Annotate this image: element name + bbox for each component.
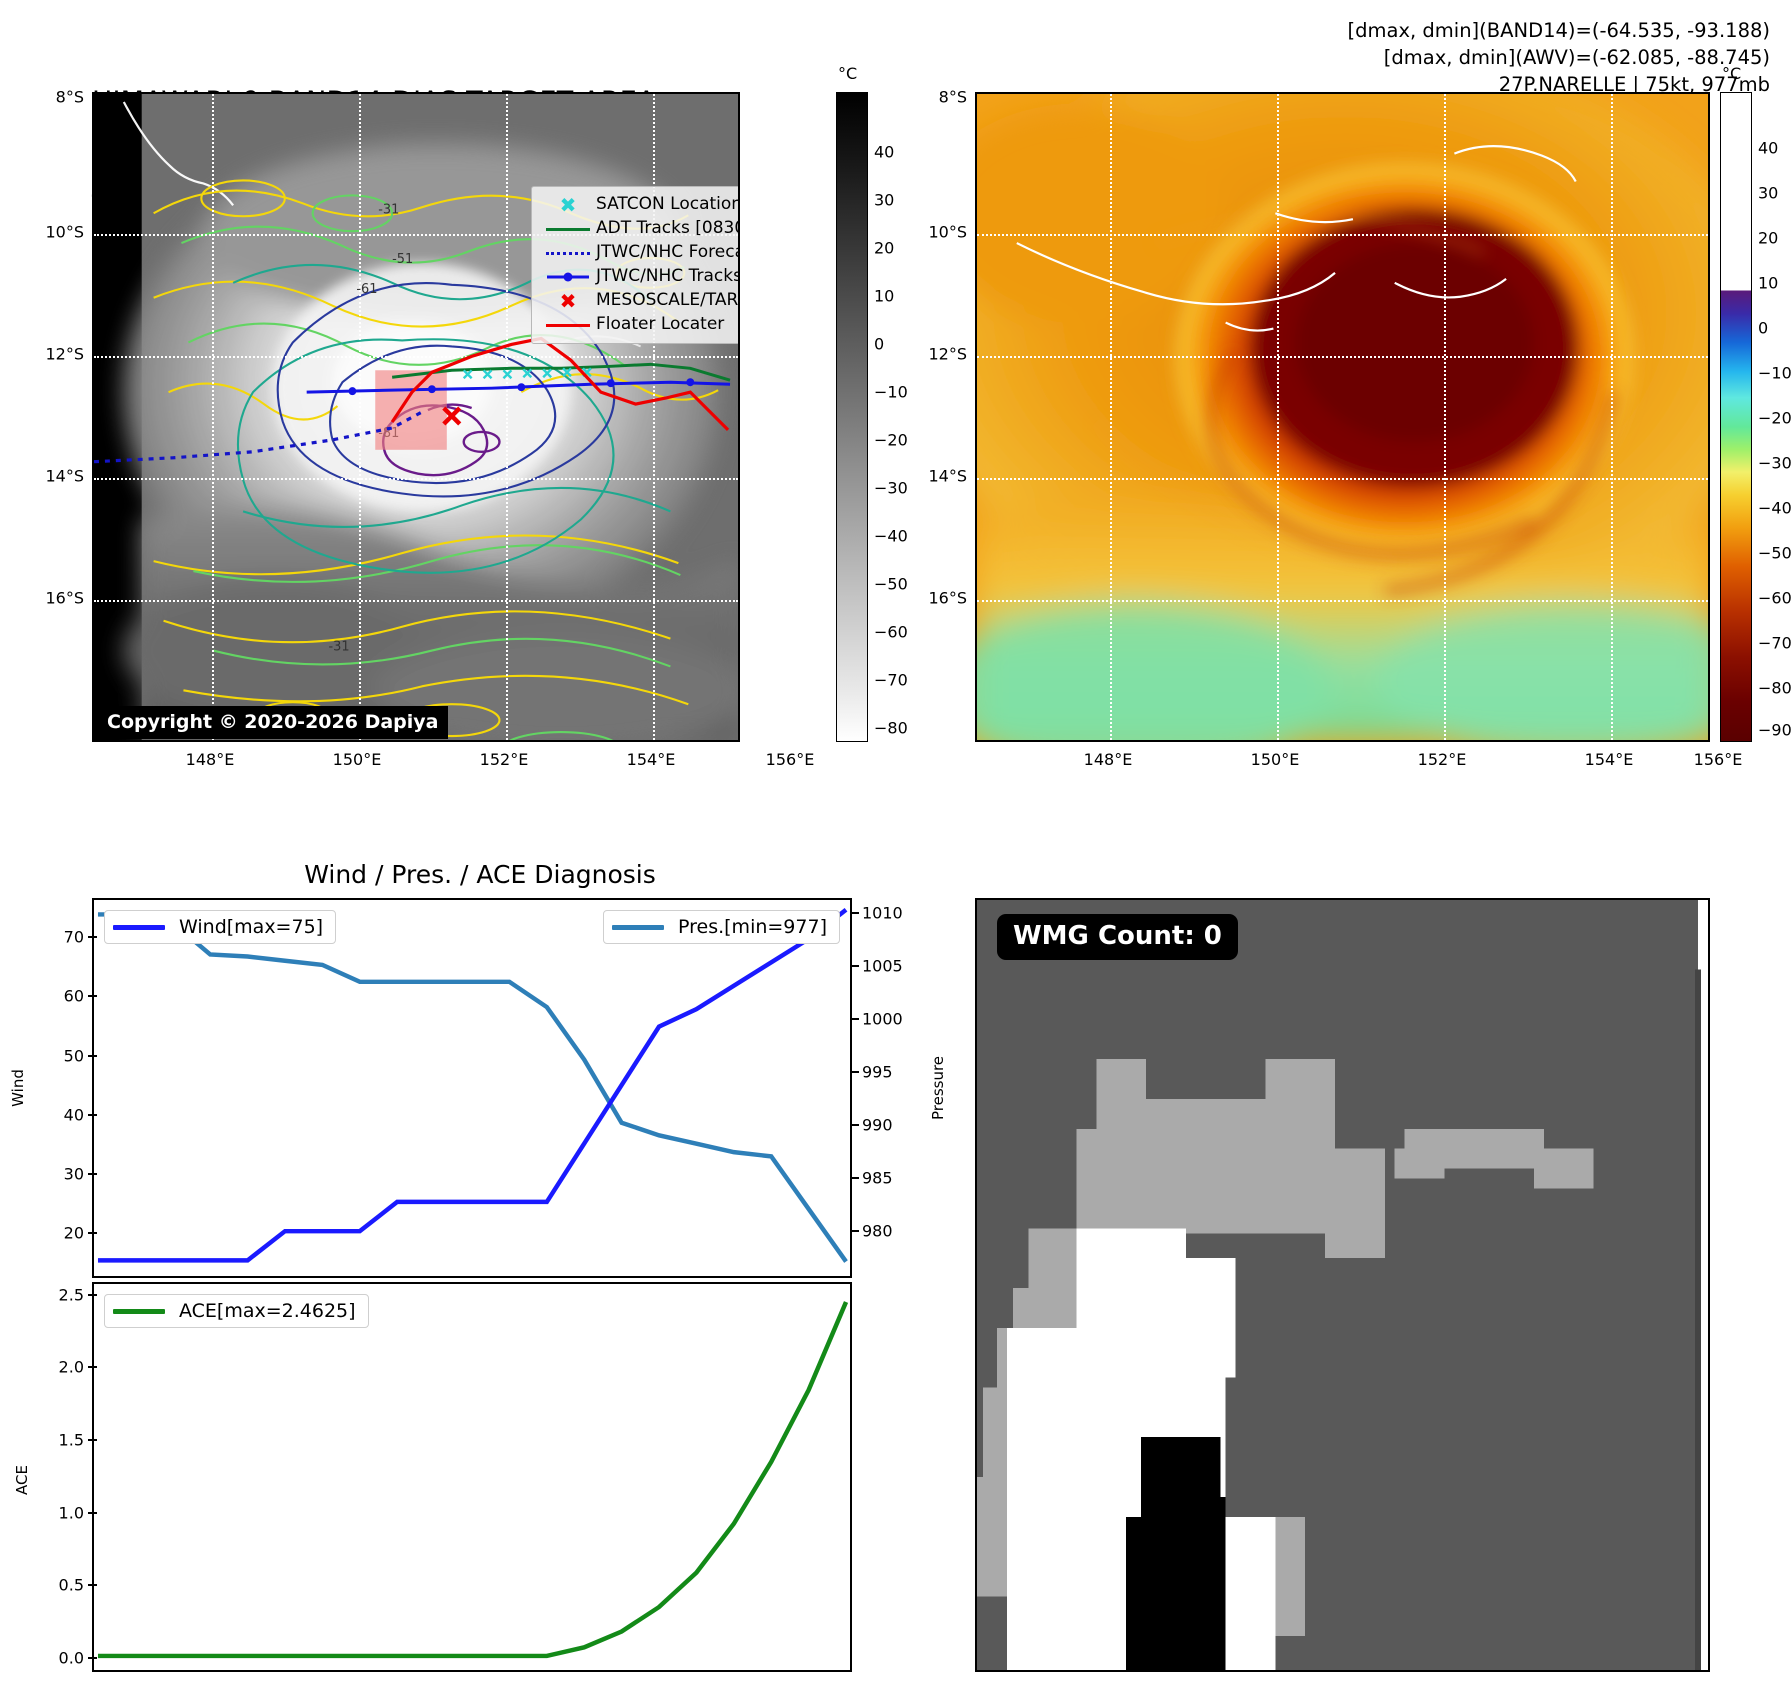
axis-tick-label: 2.0 — [59, 1358, 84, 1377]
colorbar-tick: −40 — [1758, 499, 1792, 518]
lat-tick: 10°S — [928, 223, 967, 242]
diagnosis-chart-title: Wind / Pres. / ACE Diagnosis — [304, 860, 656, 889]
colorbar-tick: 40 — [874, 143, 894, 162]
axis-tick-label: 990 — [862, 1116, 893, 1135]
axis-tick-label: 2.5 — [59, 1285, 84, 1304]
axis-tick-label: 0.5 — [59, 1576, 84, 1595]
axis-tick-label: 995 — [862, 1063, 893, 1082]
lon-tick: 154°E — [627, 750, 676, 769]
mesoscale-x-icon: ✖ — [540, 291, 596, 311]
colorbar-tick: −60 — [874, 623, 908, 642]
legend-item[interactable]: ✖ SATCON Locations [0530Z 64 984] — [540, 193, 740, 217]
colorbar-tick: −40 — [874, 527, 908, 546]
tracks-line-dot-icon — [540, 271, 596, 283]
axis-tick-label: 1.5 — [59, 1430, 84, 1449]
colorbar-tick: −20 — [1758, 409, 1792, 428]
map-gridline-lon — [1277, 94, 1279, 740]
lat-tick: 14°S — [928, 467, 967, 486]
lon-tick: 152°E — [480, 750, 529, 769]
colorbar-tick: −70 — [1758, 634, 1792, 653]
colorbar-tick: −70 — [874, 671, 908, 690]
wind-pressure-chart[interactable]: Wind[max=75] Pres.[min=977] — [92, 898, 852, 1278]
colorbar-unit-left: °C — [838, 64, 857, 83]
axis-tick-mark — [850, 1177, 859, 1179]
wind-pressure-plot-area — [94, 900, 850, 1276]
colorbar-tick: 10 — [874, 287, 894, 306]
enhanced-ir-imagery — [977, 94, 1708, 740]
copyright-notice: Copyright © 2020-2026 Dapiya — [95, 706, 448, 739]
lat-tick: 8°S — [939, 88, 967, 107]
lon-tick: 148°E — [1084, 750, 1133, 769]
lon-tick: 148°E — [186, 750, 235, 769]
axis-tick-mark — [88, 1366, 97, 1368]
map-gridline-lon — [1444, 94, 1446, 740]
axis-tick-mark — [850, 1071, 859, 1073]
lon-tick: 152°E — [1418, 750, 1467, 769]
legend-item[interactable]: ADT Tracks [0830Z 74.6 977.6] — [540, 217, 740, 241]
wmg-classification-map — [977, 900, 1708, 1670]
axis-tick-label: 1000 — [862, 1009, 903, 1028]
wind-series-line — [98, 910, 846, 1261]
header-stats: [dmax, dmin](BAND14)=(-64.535, -93.188) … — [1348, 18, 1770, 99]
map-legend: ✖ SATCON Locations [0530Z 64 984] ADT Tr… — [531, 186, 740, 344]
lon-tick: 150°E — [1251, 750, 1300, 769]
axis-tick-mark — [850, 1230, 859, 1232]
pressure-series-line — [98, 914, 846, 1261]
wmg-panel[interactable]: WMG Count: 0 — [975, 898, 1710, 1672]
stat-awv: [dmax, dmin](AWV)=(-62.085, -88.745) — [1348, 45, 1770, 72]
axis-tick-mark — [850, 912, 859, 914]
axis-tick-mark — [88, 1294, 97, 1296]
axis-tick-mark — [88, 1584, 97, 1586]
colorbar-enhanced-ir — [1720, 92, 1752, 742]
ace-axis-label: ACE — [13, 1465, 31, 1495]
colorbar-unit-right: °C — [1722, 64, 1741, 83]
axis-tick-label: 50 — [64, 1046, 84, 1065]
forecast-dotted-line-icon — [540, 252, 596, 255]
colorbar-tick: 10 — [1758, 274, 1778, 293]
colorbar-tick: 20 — [874, 239, 894, 258]
colorbar-tick: −30 — [1758, 454, 1792, 473]
pressure-legend-label: Pres.[min=977] — [678, 916, 827, 938]
axis-tick-mark — [88, 995, 97, 997]
axis-tick-label: 60 — [64, 987, 84, 1006]
map-gridline-lat — [977, 234, 1708, 236]
lat-tick: 10°S — [45, 223, 84, 242]
legend-label: MESOSCALE/TARGET Location — [596, 288, 740, 314]
axis-tick-mark — [850, 1124, 859, 1126]
ace-legend-label: ACE[max=2.4625] — [179, 1300, 356, 1322]
lon-tick: 150°E — [333, 750, 382, 769]
target-box — [375, 370, 447, 450]
colorbar-tick: −60 — [1758, 589, 1792, 608]
map-gridline-lon — [1110, 94, 1112, 740]
colorbar-tick: −20 — [874, 431, 908, 450]
legend-label: JTWC/NHC Forecast [18/0000Z] — [596, 240, 740, 266]
lat-tick: 12°S — [45, 345, 84, 364]
axis-tick-mark — [88, 1512, 97, 1514]
colorbar-tick: −50 — [1758, 544, 1792, 563]
colorbar-tick: 0 — [874, 335, 884, 354]
colorbar-tick: −30 — [874, 479, 908, 498]
pressure-color-swatch — [612, 925, 664, 930]
axis-tick-label: 1005 — [862, 956, 903, 975]
band14-target-area-map[interactable]: -31 -51 -61 -81 -31 — [92, 92, 740, 742]
adt-line-icon — [540, 228, 596, 231]
axis-tick-label: 1010 — [862, 903, 903, 922]
stat-band14: [dmax, dmin](BAND14)=(-64.535, -93.188) — [1348, 18, 1770, 45]
lat-tick: 8°S — [56, 88, 84, 107]
axis-tick-mark — [88, 1055, 97, 1057]
legend-label: Floater Locater — [596, 312, 724, 338]
map-gridline-lat — [977, 356, 1708, 358]
pressure-legend[interactable]: Pres.[min=977] — [603, 910, 840, 944]
wmg-count-badge: WMG Count: 0 — [997, 914, 1238, 960]
ace-series-line — [98, 1302, 846, 1656]
wind-axis-label: Wind — [9, 1069, 27, 1107]
axis-tick-label: 0.0 — [59, 1648, 84, 1667]
ace-chart[interactable]: ACE[max=2.4625] — [92, 1282, 852, 1672]
axis-tick-mark — [88, 1173, 97, 1175]
ace-legend[interactable]: ACE[max=2.4625] — [104, 1294, 369, 1328]
axis-tick-mark — [88, 1439, 97, 1441]
legend-label: ADT Tracks [0830Z 74.6 977.6] — [596, 216, 740, 242]
lat-tick: 16°S — [45, 589, 84, 608]
axis-tick-label: 70 — [64, 928, 84, 947]
axis-tick-label: 30 — [64, 1164, 84, 1183]
map-gridline-lon — [1611, 94, 1613, 740]
ace-color-swatch — [113, 1309, 165, 1314]
axis-tick-label: 1.0 — [59, 1503, 84, 1522]
pressure-axis-label: Pressure — [929, 1056, 947, 1120]
colorbar-tick: −80 — [874, 719, 908, 738]
legend-item[interactable]: Floater Locater — [540, 313, 740, 337]
legend-item[interactable]: JTWC/NHC Tracks [18/0600Z] — [540, 265, 740, 289]
lon-tick: 154°E — [1585, 750, 1634, 769]
colorbar-grayscale — [836, 92, 868, 742]
map-gridline-lat — [977, 478, 1708, 480]
colorbar-tick: 40 — [1758, 139, 1778, 158]
wind-legend-label: Wind[max=75] — [179, 916, 323, 938]
colorbar-tick: 30 — [1758, 184, 1778, 203]
colorbar-tick: 0 — [1758, 319, 1768, 338]
axis-tick-label: 20 — [64, 1223, 84, 1242]
wind-legend[interactable]: Wind[max=75] — [104, 910, 336, 944]
lat-tick: 14°S — [45, 467, 84, 486]
colorbar-tick: −80 — [1758, 679, 1792, 698]
axis-tick-mark — [88, 1232, 97, 1234]
lon-tick: 156°E — [766, 750, 815, 769]
map-gridline-lat — [977, 600, 1708, 602]
axis-tick-mark — [88, 1114, 97, 1116]
awv-enhanced-ir-map[interactable] — [975, 92, 1710, 742]
axis-tick-label: 985 — [862, 1169, 893, 1188]
colorbar-tick: −50 — [874, 575, 908, 594]
axis-tick-mark — [88, 1657, 97, 1659]
axis-tick-label: 40 — [64, 1105, 84, 1124]
ace-plot-area — [94, 1284, 850, 1670]
lon-tick: 156°E — [1694, 750, 1743, 769]
colorbar-tick: −10 — [1758, 364, 1792, 383]
colorbar-tick: −90 — [1758, 721, 1792, 740]
floater-line-icon — [540, 324, 596, 327]
legend-item[interactable]: JTWC/NHC Forecast [18/0000Z] — [540, 241, 740, 265]
lat-tick: 12°S — [928, 345, 967, 364]
axis-tick-mark — [850, 965, 859, 967]
colorbar-tick: 20 — [1758, 229, 1778, 248]
colorbar-tick: 30 — [874, 191, 894, 210]
axis-tick-mark — [88, 936, 97, 938]
axis-tick-label: 980 — [862, 1222, 893, 1241]
legend-item[interactable]: ✖ MESOSCALE/TARGET Location — [540, 289, 740, 313]
lat-tick: 16°S — [928, 589, 967, 608]
legend-label: SATCON Locations [0530Z 64 984] — [596, 192, 740, 218]
wind-color-swatch — [113, 925, 165, 930]
axis-tick-mark — [850, 1018, 859, 1020]
satcon-x-icon: ✖ — [540, 195, 596, 215]
legend-label: JTWC/NHC Tracks [18/0600Z] — [596, 264, 740, 290]
colorbar-tick: −10 — [874, 383, 908, 402]
